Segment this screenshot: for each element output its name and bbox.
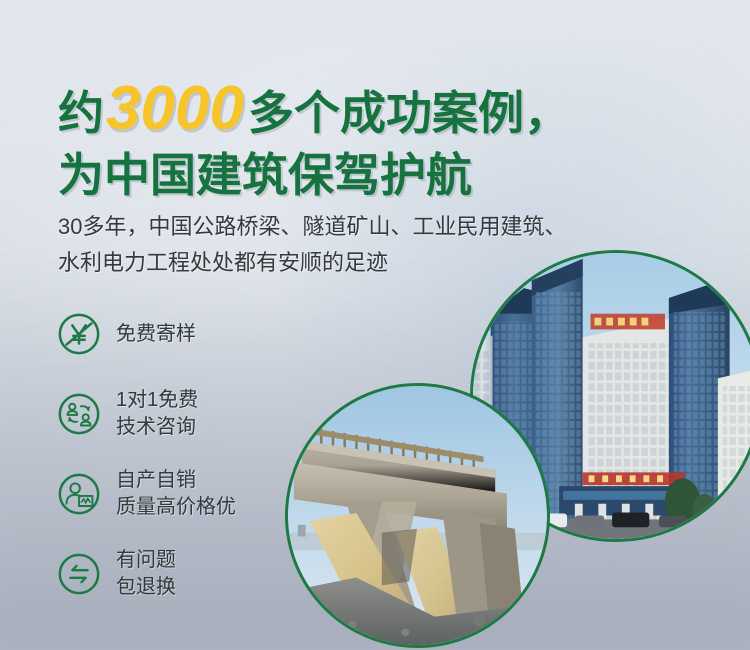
feature-label-line-2: 技术咨询: [116, 414, 198, 441]
feature-item-free-sample: 免费寄样: [56, 300, 296, 368]
feature-label-line-1: 1对1免费: [116, 387, 198, 414]
feature-label-line-2: 质量高价格优: [116, 494, 236, 521]
subtitle: 30多年，中国公路桥梁、隧道矿山、工业民用建筑、 水利电力工程处处都有安顺的足迹: [58, 210, 566, 282]
feature-item-return-exchange: 有问题 包退换: [56, 540, 296, 608]
promo-banner: 约 3000 多个成功案例， 为中国建筑保驾护航 30多年，中国公路桥梁、隧道矿…: [0, 0, 750, 650]
return-exchange-icon: [56, 551, 102, 597]
free-sample-icon: [56, 311, 102, 357]
feature-label-line-1: 免费寄样: [116, 321, 196, 348]
headline-line-2: 为中国建筑保驾护航: [58, 152, 570, 198]
bridge-photo: [285, 383, 550, 648]
headline-suffix: 多个成功案例，: [248, 90, 570, 136]
feature-label-line-1: 有问题: [116, 547, 176, 574]
feature-item-consultation: 1对1免费 技术咨询: [56, 380, 296, 448]
feature-label: 免费寄样: [116, 321, 196, 348]
feature-label: 1对1免费 技术咨询: [116, 387, 198, 441]
feature-label: 有问题 包退换: [116, 547, 176, 601]
feature-list: 免费寄样: [56, 300, 296, 620]
feature-item-self-production: 自产自销 质量高价格优: [56, 460, 296, 528]
feature-label-line-1: 自产自销: [116, 467, 236, 494]
one-on-one-consult-icon: [56, 391, 102, 437]
headline-number: 3000: [104, 78, 248, 140]
feature-label-line-2: 包退换: [116, 574, 176, 601]
self-production-icon: [56, 471, 102, 517]
headline-line-1: 约 3000 多个成功案例，: [58, 78, 570, 140]
headline-prefix: 约: [58, 90, 104, 136]
headline: 约 3000 多个成功案例， 为中国建筑保驾护航: [58, 78, 570, 198]
subtitle-line-2: 水利电力工程处处都有安顺的足迹: [58, 246, 566, 280]
feature-label: 自产自销 质量高价格优: [116, 467, 236, 521]
subtitle-line-1: 30多年，中国公路桥梁、隧道矿山、工业民用建筑、: [58, 210, 566, 244]
